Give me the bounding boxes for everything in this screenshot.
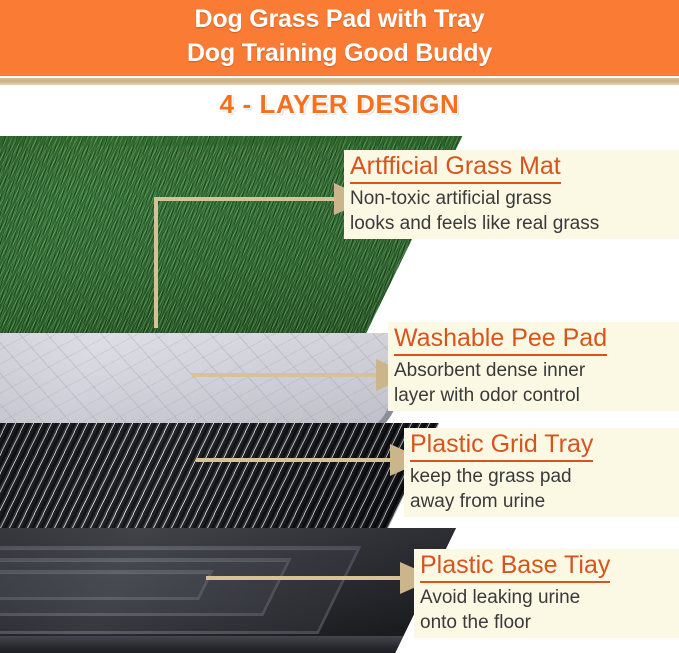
callout-base-tray-body-line-1: Avoid leaking urine (420, 585, 673, 610)
callout-grid-tray-body: keep the grass pad away from urine (410, 464, 673, 514)
callout-grid-tray-body-line-2: away from urine (410, 489, 673, 514)
callout-grass-mat: Artfficial Grass Mat Non-toxic artificia… (344, 150, 679, 239)
callout-grass-mat-body: Non-toxic artificial grass looks and fee… (350, 186, 673, 236)
callout-pee-pad-body-line-2: layer with odor control (394, 383, 673, 408)
callout-pee-pad: Washable Pee Pad Absorbent dense inner l… (388, 322, 679, 411)
callout-base-tray-body-line-2: onto the floor (420, 610, 673, 635)
header-title-line-1: Dog Grass Pad with Tray (0, 2, 679, 36)
callout-pee-pad-body-line-1: Absorbent dense inner (394, 358, 673, 383)
layer-base-tray (0, 528, 456, 653)
callout-pee-pad-title: Washable Pee Pad (394, 323, 607, 356)
header-title-line-2: Dog Training Good Buddy (0, 36, 679, 70)
callout-grass-mat-body-line-1: Non-toxic artificial grass (350, 186, 673, 211)
product-infographic: Dog Grass Pad with Tray Dog Training Goo… (0, 0, 679, 653)
callout-grid-tray: Plastic Grid Tray keep the grass pad awa… (404, 428, 679, 517)
header-banner: Dog Grass Pad with Tray Dog Training Goo… (0, 0, 679, 76)
callout-grid-tray-title: Plastic Grid Tray (410, 429, 593, 462)
base-tray-front-lip (0, 636, 404, 653)
grid-tray-shading (0, 423, 439, 543)
callout-grass-mat-title: Artfficial Grass Mat (350, 151, 561, 184)
callout-base-tray-title: Plastic Base Tiay (420, 550, 610, 583)
callout-base-tray: Plastic Base Tiay Avoid leaking urine on… (414, 549, 679, 638)
callout-pee-pad-body: Absorbent dense inner layer with odor co… (394, 358, 673, 408)
header-divider-rule (0, 78, 679, 85)
callout-grass-mat-body-line-2: looks and feels like real grass (350, 211, 673, 236)
base-tray-shading (0, 528, 456, 653)
layer-grid-tray (0, 423, 439, 543)
callout-grid-tray-body-line-1: keep the grass pad (410, 464, 673, 489)
header-title: Dog Grass Pad with Tray Dog Training Goo… (0, 2, 679, 70)
callout-base-tray-body: Avoid leaking urine onto the floor (420, 585, 673, 635)
subtitle-4-layer-design: 4 - LAYER DESIGN (0, 89, 679, 119)
